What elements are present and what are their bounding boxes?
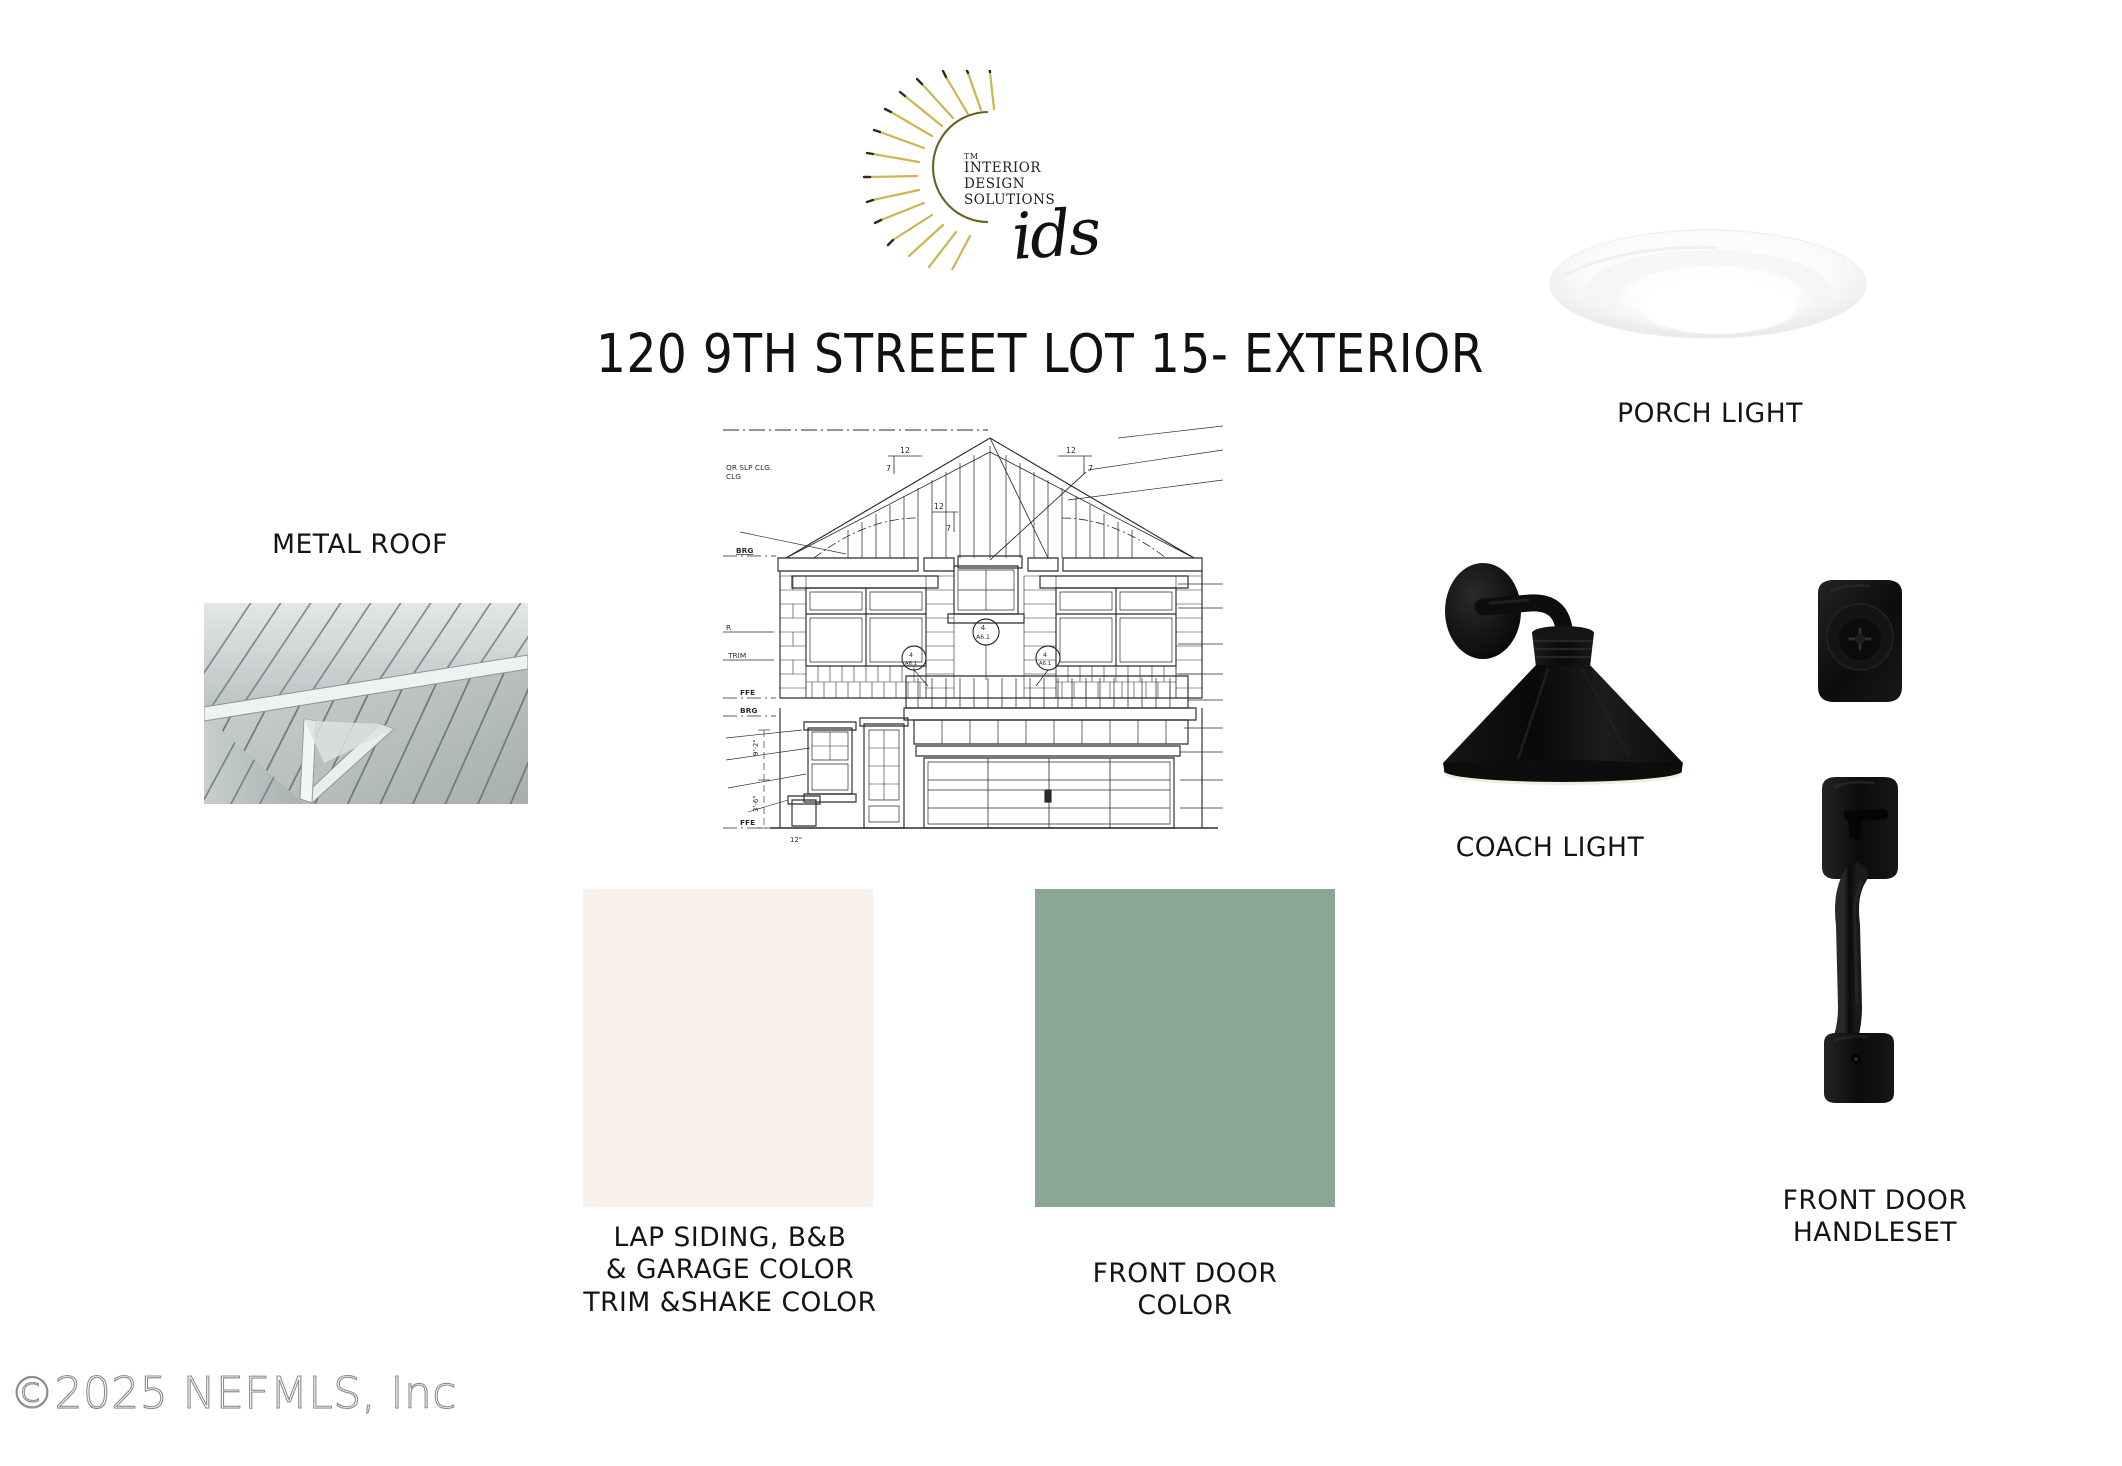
annotation-bubble-number-right: 4 [1043, 651, 1047, 659]
lap-siding-color-swatch [583, 889, 873, 1207]
porch-light-label: PORCH LIGHT [1560, 398, 1860, 430]
house-elevation-drawing: OR SLP CLG. CLG BRG R TRIM FFE BRG FFE 1… [718, 408, 1228, 848]
annotation-pitch-run-right: 7 [1088, 464, 1093, 473]
annotation-brg-upper: BRG [736, 546, 753, 555]
annotation-bubble-number: 4 [981, 624, 986, 632]
metal-roof-photo [204, 603, 528, 804]
deadbolt-image [1800, 575, 1920, 710]
coach-light-image [1398, 545, 1698, 795]
door-handle-image [1800, 775, 1920, 1105]
metal-roof-label: METAL ROOF [150, 529, 570, 561]
logo-word-interior: INTERIOR [964, 161, 1082, 177]
annotation-r: R [726, 623, 731, 632]
annotation-dim-footing: 12" [790, 836, 802, 844]
annotation-dim-upper: 9'-2" [752, 739, 760, 756]
annotation-pitch-run-mid: 7 [946, 524, 951, 533]
annotation-pitch-run-left: 7 [886, 464, 891, 473]
annotation-ffe-upper: FFE [740, 688, 755, 697]
mls-watermark: ©2025 NEFMLS, Inc [10, 1368, 457, 1419]
annotation-pitch-rise-right: 12 [1066, 446, 1076, 455]
annotation-brg-lower: BRG [740, 706, 757, 715]
annotation-bubble-sheet: A6.1 [976, 634, 990, 641]
annotation-bubble-sheet-right: A6.1 [1039, 661, 1051, 667]
mood-board: TMINTERIOR DESIGN SOLUTIONS ids 120 9TH … [0, 0, 2122, 1466]
annotation-pitch-rise-mid: 12 [934, 502, 944, 511]
front-door-color-swatch [1035, 889, 1335, 1207]
page-title: 120 9TH STREEET LOT 15- EXTERIOR [380, 322, 1700, 387]
annotation-bubble-sheet-left: A6.1 [905, 661, 917, 667]
annotation-slope-ceiling-2: CLG [726, 472, 741, 481]
logo-word-design: DESIGN [964, 177, 1082, 193]
front-door-color-label: FRONT DOOR COLOR [1035, 1258, 1335, 1323]
lap-siding-color-label: LAP SIDING, B&B & GARAGE COLOR TRIM &SHA… [570, 1222, 890, 1319]
annotation-pitch-rise-left: 12 [900, 446, 910, 455]
ids-logo: TMINTERIOR DESIGN SOLUTIONS ids [860, 70, 1100, 270]
coach-light-label: COACH LIGHT [1400, 832, 1700, 864]
porch-light-image [1548, 214, 1868, 339]
annotation-slope-ceiling-1: OR SLP CLG. [726, 463, 772, 472]
annotation-ffe-lower: FFE [740, 818, 755, 827]
front-door-handleset-label: FRONT DOOR HANDLESET [1720, 1185, 2030, 1250]
annotation-bubble-number-left: 4 [909, 651, 913, 659]
annotation-dim-lower: 3'-6" [752, 795, 760, 812]
annotation-trim: TRIM [727, 651, 746, 660]
logo-script-ids: ids [1010, 195, 1102, 275]
